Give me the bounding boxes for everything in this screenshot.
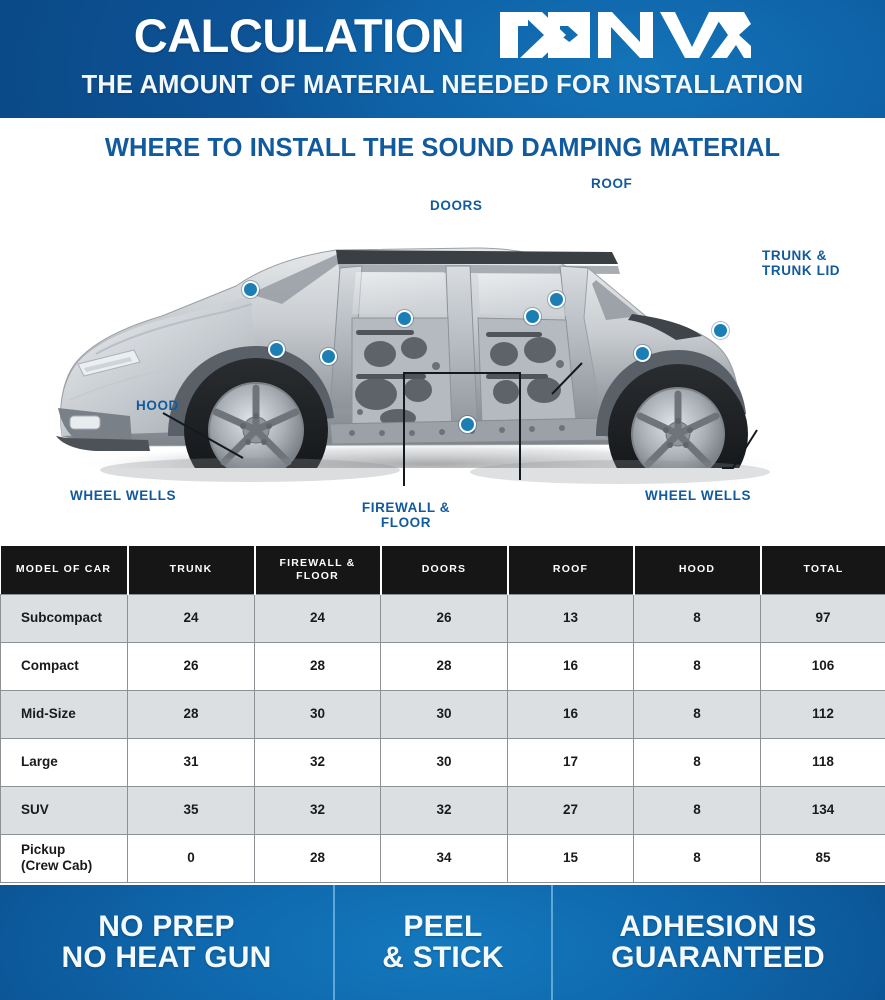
header-top-row: CALCULATION [0, 10, 885, 60]
cell-total: 106 [761, 642, 885, 690]
footer-claim-adhesion: ADHESION IS GUARANTEED [553, 885, 883, 1000]
vehicle-illustration [0, 168, 885, 540]
infographic-page: CALCULATION [0, 0, 885, 1000]
cell-trunk: 28 [128, 690, 255, 738]
label-wheel-wells-rear: WHEEL WELLS [645, 488, 751, 503]
label-wheel-wells-front: WHEEL WELLS [70, 488, 176, 503]
cell-doors: 26 [381, 594, 508, 642]
cell-roof: 15 [508, 834, 634, 882]
cell-trunk: 31 [128, 738, 255, 786]
cell-total: 97 [761, 594, 885, 642]
cell-firewall: 30 [255, 690, 381, 738]
footer-claim-no-prep: NO PREP NO HEAT GUN [0, 885, 333, 1000]
cell-model: Subcompact [1, 594, 128, 642]
col-header-firewall: FIREWALL & FLOOR [255, 546, 381, 594]
header-subtitle: THE AMOUNT OF MATERIAL NEEDED FOR INSTAL… [0, 73, 885, 99]
col-header-hood: HOOD [634, 546, 761, 594]
cell-roof: 17 [508, 738, 634, 786]
cell-firewall: 28 [255, 834, 381, 882]
label-firewall-and-floor: FIREWALL & FLOOR [351, 500, 461, 530]
cell-hood: 8 [634, 642, 761, 690]
cell-hood: 8 [634, 786, 761, 834]
calculation-table-wrapper: MODEL OF CAR TRUNK FIREWALL & FLOOR DOOR… [0, 546, 885, 883]
cell-trunk: 24 [128, 594, 255, 642]
cell-roof: 27 [508, 786, 634, 834]
table-row: Mid-Size 28 30 30 16 8 112 [1, 690, 885, 738]
section-title: WHERE TO INSTALL THE SOUND DAMPING MATER… [0, 134, 885, 163]
page-title: CALCULATION [134, 12, 464, 59]
label-doors: DOORS [430, 198, 483, 213]
table-row: Large 31 32 30 17 8 118 [1, 738, 885, 786]
table-row: SUV 35 32 32 27 8 134 [1, 786, 885, 834]
footer-banner: NO PREP NO HEAT GUN PEEL & STICK ADHESIO… [0, 885, 885, 1000]
cell-model: Large [1, 738, 128, 786]
cell-roof: 16 [508, 642, 634, 690]
cell-hood: 8 [634, 690, 761, 738]
x-logo-icon [498, 10, 751, 60]
callout-dot-front-fender [268, 341, 285, 358]
cell-model: SUV [1, 786, 128, 834]
cell-trunk: 0 [128, 834, 255, 882]
label-hood: HOOD [136, 398, 179, 413]
cell-total: 85 [761, 834, 885, 882]
cell-firewall: 32 [255, 738, 381, 786]
cell-doors: 34 [381, 834, 508, 882]
brand-logo [498, 10, 751, 60]
table-row: Compact 26 28 28 16 8 106 [1, 642, 885, 690]
cell-trunk: 35 [128, 786, 255, 834]
callout-dot-rear-quarter [634, 345, 651, 362]
col-header-trunk: TRUNK [128, 546, 255, 594]
cell-trunk: 26 [128, 642, 255, 690]
table-header-row: MODEL OF CAR TRUNK FIREWALL & FLOOR DOOR… [1, 546, 885, 594]
cell-model: Mid-Size [1, 690, 128, 738]
cell-firewall: 28 [255, 642, 381, 690]
cell-roof: 16 [508, 690, 634, 738]
table-head: MODEL OF CAR TRUNK FIREWALL & FLOOR DOOR… [1, 546, 885, 594]
footer-claim-peel-stick: PEEL & STICK [333, 885, 553, 1000]
cell-model: Compact [1, 642, 128, 690]
cell-doors: 28 [381, 642, 508, 690]
col-header-model: MODEL OF CAR [1, 546, 128, 594]
callout-dot-trunk [712, 322, 729, 339]
cell-hood: 8 [634, 834, 761, 882]
calculation-table: MODEL OF CAR TRUNK FIREWALL & FLOOR DOOR… [0, 546, 885, 883]
cell-hood: 8 [634, 738, 761, 786]
callout-dot-front-door-edge [320, 348, 337, 365]
table-row: Subcompact 24 24 26 13 8 97 [1, 594, 885, 642]
table-body: Subcompact 24 24 26 13 8 97 Compact 26 2… [1, 594, 885, 882]
col-header-doors: DOORS [381, 546, 508, 594]
cell-doors: 30 [381, 690, 508, 738]
cell-hood: 8 [634, 594, 761, 642]
col-header-roof: ROOF [508, 546, 634, 594]
table-row: Pickup (Crew Cab) 0 28 34 15 8 85 [1, 834, 885, 882]
callout-dot-rear-door [524, 308, 541, 325]
cell-total: 118 [761, 738, 885, 786]
callout-dot-front-door [396, 310, 413, 327]
callout-dot-hood [242, 281, 259, 298]
cell-doors: 32 [381, 786, 508, 834]
cell-doors: 30 [381, 738, 508, 786]
callout-dot-roof [548, 291, 565, 308]
label-trunk-and-trunk-lid: TRUNK & TRUNK LID [762, 248, 840, 278]
cell-total: 112 [761, 690, 885, 738]
vehicle-diagram: HOOD DOORS ROOF TRUNK & TRUNK LID WHEEL … [0, 168, 885, 540]
label-roof: ROOF [591, 176, 632, 191]
cell-model: Pickup (Crew Cab) [1, 834, 128, 882]
col-header-total: TOTAL [761, 546, 885, 594]
cell-roof: 13 [508, 594, 634, 642]
callout-dot-floor [459, 416, 476, 433]
cell-firewall: 32 [255, 786, 381, 834]
cell-firewall: 24 [255, 594, 381, 642]
header-banner: CALCULATION [0, 0, 885, 118]
cell-total: 134 [761, 786, 885, 834]
